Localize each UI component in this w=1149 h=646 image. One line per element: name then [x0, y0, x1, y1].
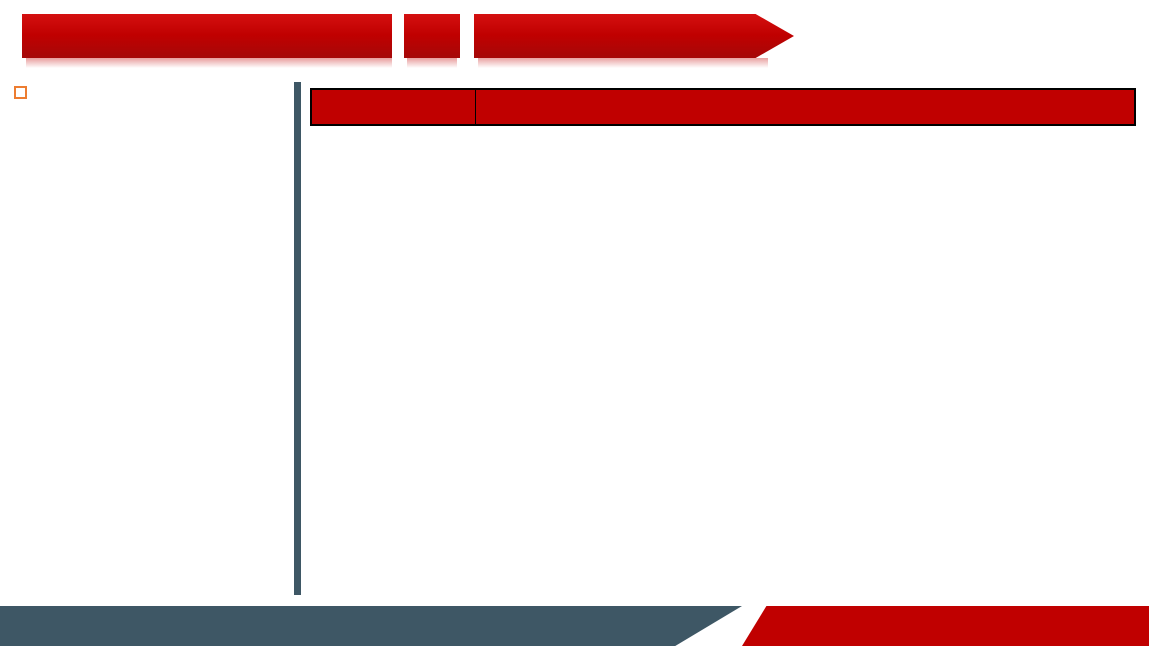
page-header: [0, 0, 1149, 72]
header-support-type: [311, 89, 476, 125]
construction-plan-table: [310, 88, 1136, 595]
footer-red-band: [742, 606, 1149, 646]
page-footer: [0, 600, 1149, 646]
header-construction-plan: [476, 89, 1135, 125]
subsection-banner: [474, 14, 794, 58]
left-text-panel: [0, 82, 296, 597]
table-header-row: [311, 89, 1135, 125]
banner-shadow: [478, 58, 768, 68]
double-chevron-right-icon: [404, 14, 460, 58]
footer-teal-band: [0, 606, 742, 646]
panel-divider: [294, 82, 301, 595]
section-banner: [22, 14, 392, 58]
left-panel-heading: [14, 86, 43, 99]
hollow-square-bullet-icon: [14, 86, 27, 99]
